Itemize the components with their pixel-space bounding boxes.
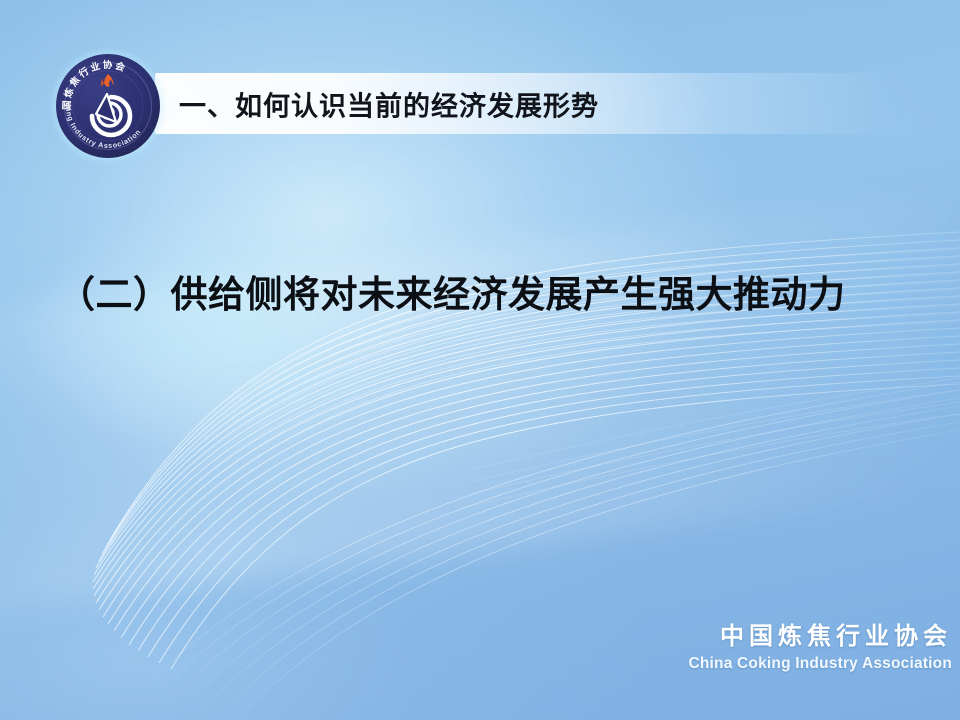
- slide-canvas: 一、如何认识当前的经济发展形势 中国炼焦行业协会: [0, 0, 960, 720]
- footer-org-name-cn: 中国炼焦行业协会: [688, 622, 952, 652]
- background-light-sheen: [0, 173, 960, 619]
- slide-heading: （二）供给侧将对未来经济发展产生强大推动力: [58, 272, 846, 318]
- association-logo: 中国炼焦行业协会 China Coking Industry Associati…: [52, 50, 164, 162]
- footer-org-name-en: China Coking Industry Association: [688, 655, 952, 674]
- page-title: 一、如何认识当前的经济发展形势: [179, 84, 599, 123]
- slide-header-bar: 一、如何认识当前的经济发展形势: [155, 73, 960, 134]
- footer-branding: 中国炼焦行业协会 China Coking Industry Associati…: [688, 622, 952, 674]
- logo-emblem-icon: 中国炼焦行业协会 China Coking Industry Associati…: [52, 50, 164, 162]
